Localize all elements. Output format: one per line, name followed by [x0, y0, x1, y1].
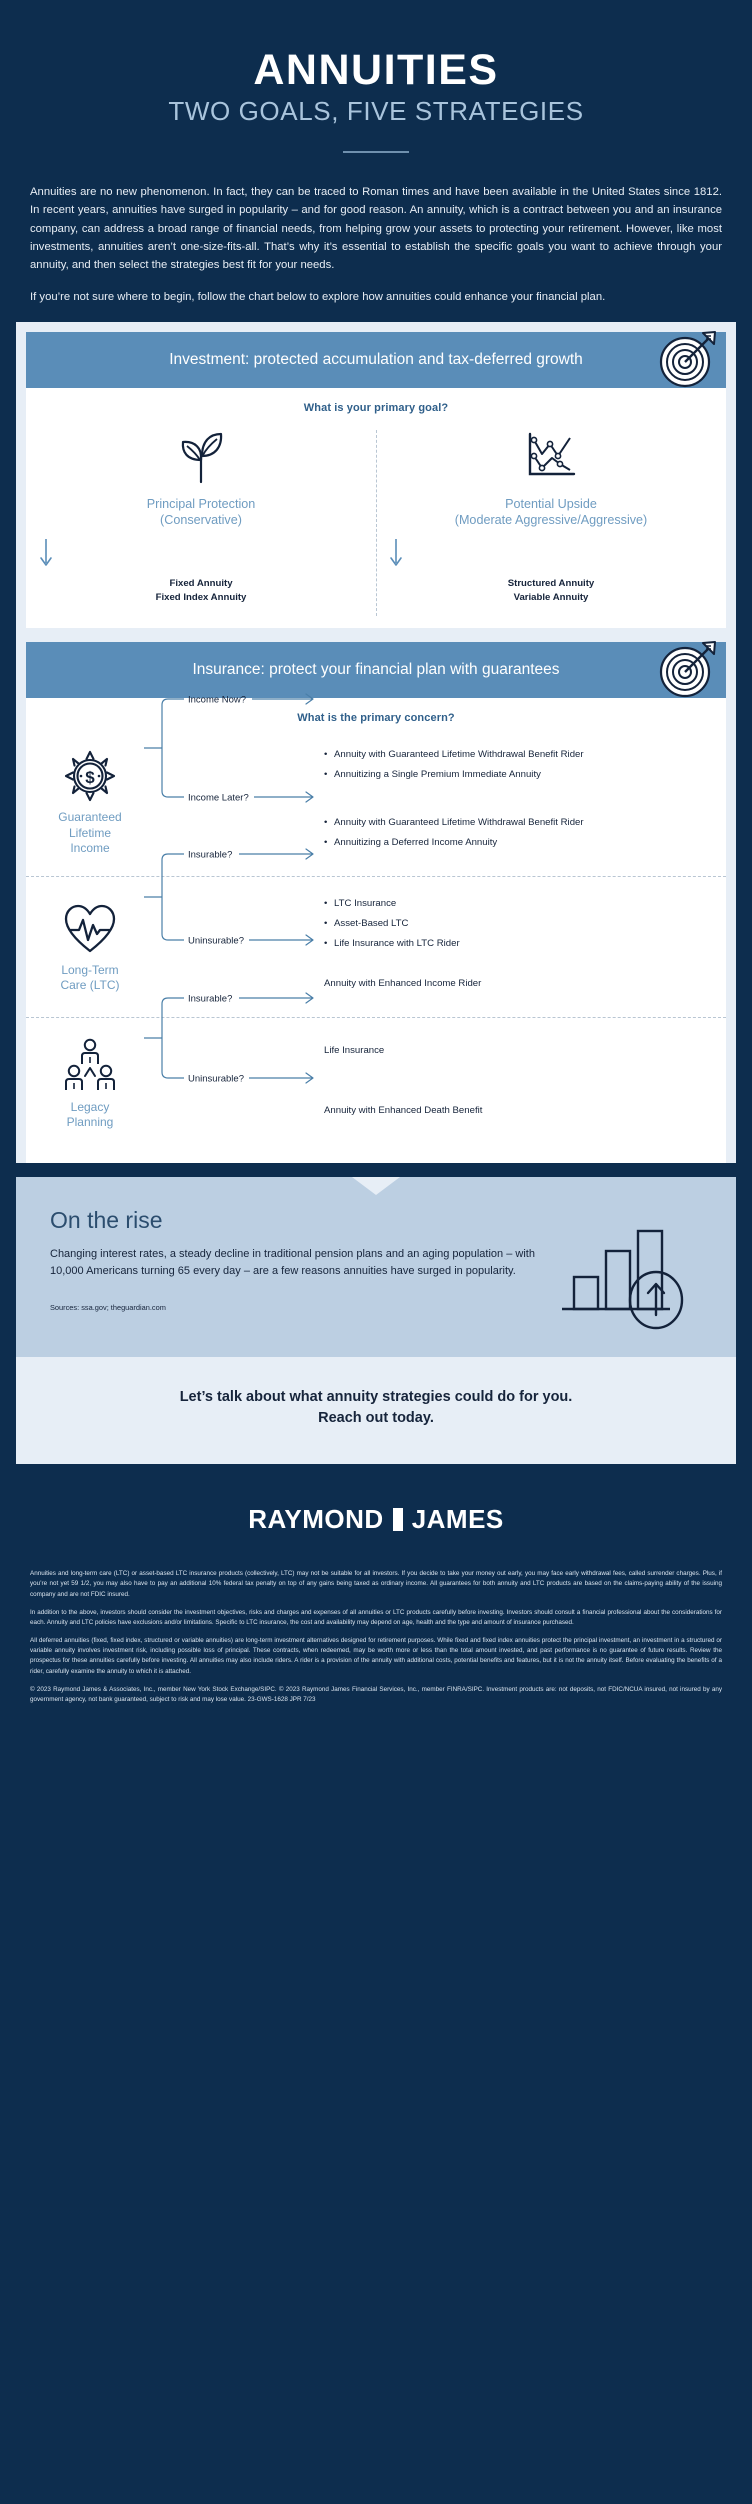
outcome-group: Annuity with Enhanced Income Rider — [324, 977, 712, 991]
disclaimer-paragraph-3: All deferred annuities (fixed, fixed ind… — [30, 1636, 722, 1677]
investment-panel: Investment: protected accumulation and t… — [26, 332, 726, 628]
outcome-item: •Annuitizing a Deferred Income Annuity — [324, 836, 712, 850]
outcome-item: •Asset-Based LTC — [324, 917, 712, 931]
on-the-rise-section: On the rise Changing interest rates, a s… — [16, 1177, 736, 1357]
svg-text:Income Now?: Income Now? — [188, 695, 246, 706]
chart-card: Investment: protected accumulation and t… — [16, 322, 736, 1163]
cta-section: Let’s talk about what annuity strategies… — [16, 1357, 736, 1465]
investment-question: What is your primary goal? — [26, 388, 726, 424]
insurance-row-long-term-care: Long-Term Care (LTC) Insurable? Uninsura… — [26, 876, 726, 1017]
svg-text:Uninsurable?: Uninsurable? — [188, 936, 244, 947]
insurance-row-label-block: $ Guaranteed Lifetime Income — [36, 748, 144, 856]
svg-text:Insurable?: Insurable? — [188, 850, 232, 861]
cta-text: Let’s talk about what annuity strategies… — [36, 1387, 716, 1431]
down-arrow-icon — [38, 539, 364, 569]
investment-column-label: Principal Protection (Conservative) — [38, 496, 364, 529]
outcome-item: •Annuitizing a Single Premium Immediate … — [324, 768, 712, 782]
svg-text:Uninsurable?: Uninsurable? — [188, 1073, 244, 1084]
brand-logo-section: RAYMOND JAMES — [0, 1464, 752, 1569]
outcome-group: •Annuity with Guaranteed Lifetime Withdr… — [324, 748, 712, 782]
investment-column-principal-protection: Principal Protection (Conservative) Fixe… — [26, 428, 376, 606]
investment-column-potential-upside: Potential Upside (Moderate Aggressive/Ag… — [376, 428, 726, 606]
intro-paragraph-2: If you’re not sure where to begin, follo… — [30, 288, 722, 306]
gear-dollar-icon: $ — [36, 748, 144, 804]
disclaimer-paragraph-4: © 2023 Raymond James & Associates, Inc.,… — [30, 1685, 722, 1705]
outcome-group: Life Insurance — [324, 1044, 712, 1058]
insurance-row-legacy-planning: Legacy Planning Insurable? Uninsurable? — [26, 1017, 726, 1163]
outcome-item: •Annuity with Guaranteed Lifetime Withdr… — [324, 816, 712, 830]
infographic-page: ANNUITIES TWO GOALS, FIVE STRATEGIES Ann… — [0, 0, 752, 1739]
raymond-james-logo: RAYMOND JAMES — [248, 1504, 504, 1535]
insurance-row-label: Guaranteed Lifetime Income — [36, 810, 144, 856]
bar-chart-up-arrow-icon — [552, 1207, 702, 1331]
svg-text:Income Later?: Income Later? — [188, 793, 249, 804]
outcome-item: Annuity with Enhanced Income Rider — [324, 977, 712, 991]
insurance-row-label-block: Legacy Planning — [36, 1038, 144, 1131]
investment-column-label: Potential Upside (Moderate Aggressive/Ag… — [388, 496, 714, 529]
disclaimer-paragraph-2: In addition to the above, investors shou… — [30, 1608, 722, 1628]
insurance-row-label: Long-Term Care (LTC) — [36, 963, 144, 994]
insurance-row-label: Legacy Planning — [36, 1100, 144, 1131]
intro-section: Annuities are no new phenomenon. In fact… — [0, 153, 752, 306]
outcome-item: •Annuity with Guaranteed Lifetime Withdr… — [324, 748, 712, 762]
insurance-row-outcomes: •Annuity with Guaranteed Lifetime Withdr… — [320, 748, 712, 856]
svg-text:$: $ — [85, 768, 95, 787]
page-subtitle: TWO GOALS, FIVE STRATEGIES — [0, 97, 752, 127]
svg-text:Insurable?: Insurable? — [188, 993, 232, 1004]
outcome-group: •Annuity with Guaranteed Lifetime Withdr… — [324, 816, 712, 850]
logo-word-raymond: RAYMOND — [248, 1504, 383, 1535]
notch-pointer — [352, 1177, 400, 1195]
heart-pulse-icon — [36, 901, 144, 957]
investment-band: Investment: protected accumulation and t… — [26, 332, 726, 388]
target-arrow-icon — [656, 329, 718, 391]
outcome-item: •LTC Insurance — [324, 897, 712, 911]
intro-paragraph-1: Annuities are no new phenomenon. In fact… — [30, 183, 722, 274]
insurance-panel: Insurance: protect your financial plan w… — [26, 642, 726, 1162]
investment-column-items: Structured Annuity Variable Annuity — [388, 577, 714, 607]
column-divider — [376, 430, 377, 616]
investment-band-title: Investment: protected accumulation and t… — [169, 350, 583, 370]
insurance-row-label-block: Long-Term Care (LTC) — [36, 901, 144, 994]
on-the-rise-sources: Sources: ssa.gov; theguardian.com — [50, 1303, 538, 1312]
insurance-row-outcomes: •LTC Insurance •Asset-Based LTC •Life In… — [320, 897, 712, 997]
hero-header: ANNUITIES TWO GOALS, FIVE STRATEGIES — [0, 0, 752, 153]
on-the-rise-body: Changing interest rates, a steady declin… — [50, 1246, 538, 1282]
disclaimer-paragraph-1: Annuities and long-term care (LTC) or as… — [30, 1569, 722, 1600]
outcome-item: Annuity with Enhanced Death Benefit — [324, 1104, 712, 1118]
investment-column-items: Fixed Annuity Fixed Index Annuity — [38, 577, 364, 607]
insurance-band: Insurance: protect your financial plan w… — [26, 642, 726, 698]
volatility-chart-icon — [388, 428, 714, 486]
insurance-question: What is the primary concern? — [26, 698, 726, 734]
on-the-rise-text-block: On the rise Changing interest rates, a s… — [50, 1207, 552, 1313]
down-arrow-icon — [388, 539, 714, 569]
investment-columns: Principal Protection (Conservative) Fixe… — [26, 424, 726, 628]
logo-word-james: JAMES — [412, 1504, 504, 1535]
outcome-group: •LTC Insurance •Asset-Based LTC •Life In… — [324, 897, 712, 951]
family-group-icon — [36, 1038, 144, 1094]
disclaimer-section: Annuities and long-term care (LTC) or as… — [0, 1569, 752, 1739]
page-title: ANNUITIES — [0, 48, 752, 93]
leaf-icon — [38, 428, 364, 486]
target-arrow-icon — [656, 639, 718, 701]
insurance-row-guaranteed-lifetime-income: $ Guaranteed Lifetime Income — [26, 734, 726, 876]
insurance-row-outcomes: Life Insurance Annuity with Enhanced Dea… — [320, 1044, 712, 1124]
outcome-item: •Life Insurance with LTC Rider — [324, 937, 712, 951]
logo-bar-icon — [393, 1508, 403, 1531]
outcome-item: Life Insurance — [324, 1044, 712, 1058]
on-the-rise-title: On the rise — [50, 1207, 538, 1234]
outcome-group: Annuity with Enhanced Death Benefit — [324, 1104, 712, 1118]
